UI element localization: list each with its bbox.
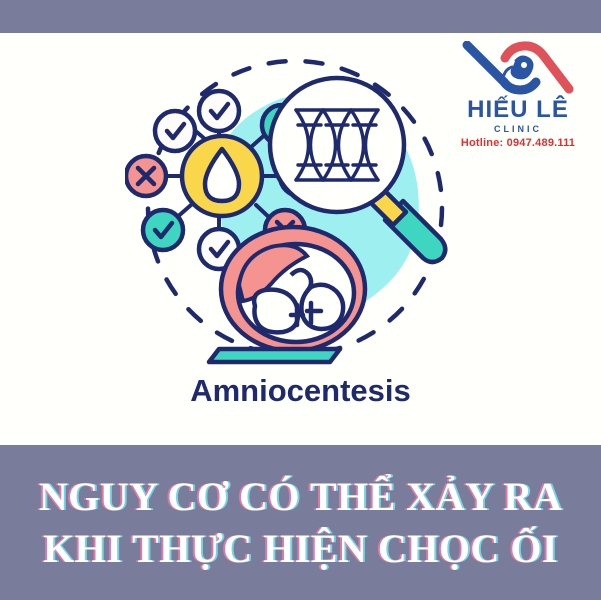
fetus-in-womb-logo-icon: [457, 41, 579, 97]
banner-line-1: NGUY CƠ CÓ THỂ XẢY RA: [39, 471, 563, 523]
content-card: HIẾU LÊ CLINIC Hotline: 0947.489.111: [0, 33, 601, 445]
check-badge-teal: [143, 210, 183, 250]
poster-root: HIẾU LÊ CLINIC Hotline: 0947.489.111: [0, 0, 601, 600]
check-badge-white: [155, 111, 195, 151]
top-color-bar: [0, 0, 601, 33]
bottom-banner: NGUY CƠ CÓ THỂ XẢY RA KHI THỰC HIỆN CHỌC…: [0, 445, 601, 600]
needle-platform-icon: [209, 349, 340, 362]
check-badge-white: [199, 91, 239, 131]
amniocentesis-illustration: [125, 53, 470, 368]
banner-line-2: KHI THỰC HIỆN CHỌC ỐI: [43, 523, 558, 575]
page-title: Amniocentesis: [0, 373, 601, 409]
x-badge-salmon: [126, 156, 166, 196]
